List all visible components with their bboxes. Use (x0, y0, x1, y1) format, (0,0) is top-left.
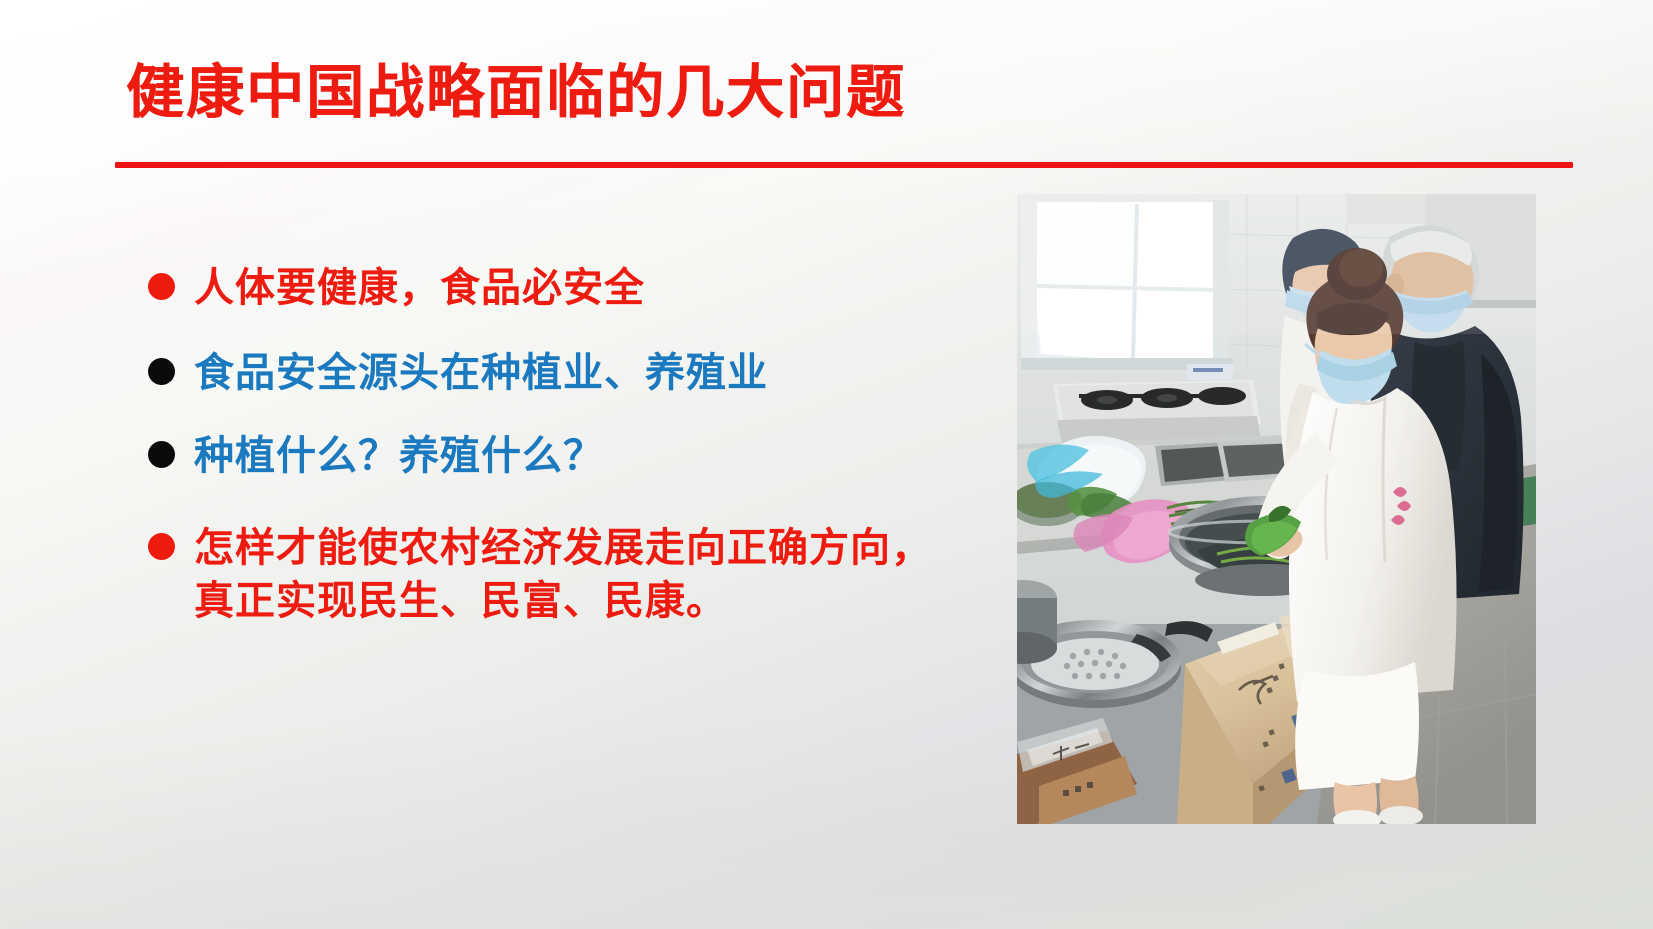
title-underline-rule (115, 162, 1573, 168)
list-item-label: 怎样才能使农村经济发展走向正确方向， 真正实现民生、民富、民康。 (194, 522, 932, 628)
bullet-dot-icon (148, 358, 175, 385)
bullet-list: 人体要健康，食品必安全 食品安全源头在种植业、养殖业 种植什么？养殖什么？ 怎样… (148, 262, 978, 650)
list-item-label: 种植什么？养殖什么？ (194, 430, 604, 483)
bullet-dot-icon (148, 441, 175, 468)
bullet-dot-icon (148, 533, 175, 560)
slide-canvas: 健康中国战略面临的几大问题 人体要健康，食品必安全 食品安全源头在种植业、养殖业… (0, 0, 1653, 929)
list-item: 人体要健康，食品必安全 (148, 262, 978, 315)
list-item: 种植什么？养殖什么？ (148, 430, 978, 483)
list-item: 食品安全源头在种植业、养殖业 (148, 347, 978, 400)
page-title: 健康中国战略面临的几大问题 (126, 62, 906, 123)
list-item-label: 人体要健康，食品必安全 (194, 262, 645, 315)
list-item-label: 食品安全源头在种植业、养殖业 (194, 347, 768, 400)
slide-photo (1017, 194, 1536, 824)
list-item: 怎样才能使农村经济发展走向正确方向， 真正实现民生、民富、民康。 (148, 522, 978, 628)
bullet-dot-icon (148, 273, 175, 300)
